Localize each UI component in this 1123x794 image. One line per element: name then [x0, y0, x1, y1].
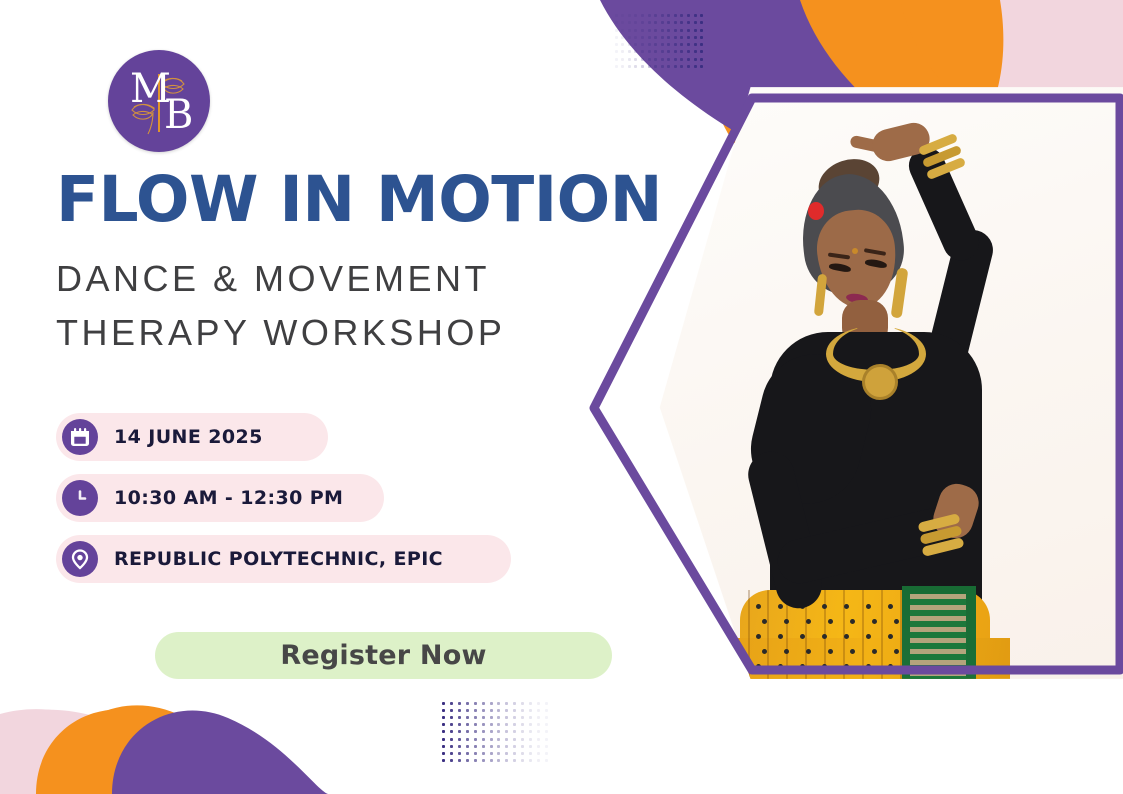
dot — [497, 709, 500, 712]
dot — [700, 29, 703, 32]
dot — [537, 738, 540, 741]
dot — [521, 709, 524, 712]
dot — [628, 50, 631, 53]
dot — [641, 21, 644, 24]
dot — [654, 21, 657, 24]
dot — [521, 723, 524, 726]
dot — [529, 745, 532, 748]
monogram-mb-logo-icon: M B — [108, 50, 210, 152]
dot — [513, 709, 516, 712]
dot — [628, 36, 631, 39]
dot — [654, 65, 657, 68]
dot — [615, 21, 618, 24]
dot — [621, 29, 624, 32]
dot — [674, 14, 677, 17]
dot — [680, 43, 683, 46]
dot — [513, 759, 516, 762]
dot — [628, 58, 631, 61]
dot — [505, 759, 508, 762]
dot — [466, 745, 469, 748]
dot — [641, 36, 644, 39]
dot — [615, 58, 618, 61]
dot — [474, 716, 477, 719]
dot — [621, 65, 624, 68]
dot — [537, 702, 540, 705]
dot — [648, 29, 651, 32]
dot — [700, 43, 703, 46]
dot — [482, 745, 485, 748]
dot — [680, 36, 683, 39]
calendar-icon — [62, 419, 98, 455]
detail-pill-venue: REPUBLIC POLYTECHNIC, EPIC — [56, 535, 511, 583]
dot — [667, 29, 670, 32]
dot — [521, 716, 524, 719]
dot — [482, 730, 485, 733]
dot — [458, 716, 461, 719]
dot — [458, 759, 461, 762]
dot — [545, 702, 548, 705]
dot — [545, 730, 548, 733]
dot — [648, 65, 651, 68]
dot — [474, 759, 477, 762]
dot — [545, 759, 548, 762]
dot — [700, 58, 703, 61]
dot — [621, 14, 624, 17]
dot — [661, 21, 664, 24]
detail-pill-date: 14 JUNE 2025 — [56, 413, 328, 461]
dot — [497, 702, 500, 705]
dot — [700, 65, 703, 68]
dot — [621, 50, 624, 53]
dot — [545, 738, 548, 741]
dot — [687, 29, 690, 32]
dot — [545, 723, 548, 726]
dot — [513, 723, 516, 726]
dot — [700, 36, 703, 39]
dot — [661, 14, 664, 17]
dot — [661, 43, 664, 46]
dot — [450, 759, 453, 762]
dancer-photo-frame: Indian classical dancer in black top and… — [580, 78, 1123, 688]
swoosh-bottom-orange — [40, 705, 280, 794]
dot — [641, 43, 644, 46]
dot — [621, 21, 624, 24]
dot — [615, 29, 618, 32]
dot — [615, 36, 618, 39]
dot — [466, 702, 469, 705]
dot — [505, 752, 508, 755]
dot — [615, 43, 618, 46]
dot — [667, 65, 670, 68]
dot — [674, 36, 677, 39]
dot — [529, 716, 532, 719]
dot — [648, 50, 651, 53]
dot — [661, 58, 664, 61]
dot — [545, 709, 548, 712]
dot — [674, 65, 677, 68]
dot — [450, 709, 453, 712]
clock-icon — [62, 480, 98, 516]
dot — [634, 21, 637, 24]
dot — [521, 738, 524, 741]
dot — [700, 21, 703, 24]
dot — [628, 43, 631, 46]
dot — [458, 723, 461, 726]
dot — [450, 745, 453, 748]
dot — [694, 29, 697, 32]
dot — [490, 716, 493, 719]
dot — [537, 716, 540, 719]
dot — [674, 29, 677, 32]
dot — [490, 745, 493, 748]
dot — [529, 738, 532, 741]
dot — [497, 716, 500, 719]
dot — [661, 65, 664, 68]
dot — [615, 65, 618, 68]
dot-grid-bottom — [440, 700, 550, 764]
dot — [529, 709, 532, 712]
dot — [674, 50, 677, 53]
dot — [641, 58, 644, 61]
dot — [505, 716, 508, 719]
hexagon-outline-icon — [580, 78, 1123, 688]
register-now-button[interactable]: Register Now — [155, 632, 612, 679]
dot — [490, 702, 493, 705]
poster-subheadline: DANCE & MOVEMENT THERAPY WORKSHOP — [56, 252, 656, 360]
dot — [505, 730, 508, 733]
dot — [513, 745, 516, 748]
dot — [694, 50, 697, 53]
dot — [680, 14, 683, 17]
dot — [641, 50, 644, 53]
dot — [529, 702, 532, 705]
dot — [497, 752, 500, 755]
dot — [442, 716, 445, 719]
dot — [545, 745, 548, 748]
dot — [694, 14, 697, 17]
dot — [458, 752, 461, 755]
dot — [505, 702, 508, 705]
dot — [537, 752, 540, 755]
dot — [537, 730, 540, 733]
dot — [687, 21, 690, 24]
dot — [654, 58, 657, 61]
dot — [667, 58, 670, 61]
dot — [458, 738, 461, 741]
dot — [490, 759, 493, 762]
dot — [621, 36, 624, 39]
dot — [521, 730, 524, 733]
dot — [634, 65, 637, 68]
location-pin-icon — [62, 541, 98, 577]
dot — [513, 752, 516, 755]
dot — [615, 14, 618, 17]
dot — [521, 702, 524, 705]
dot — [482, 738, 485, 741]
dot — [466, 709, 469, 712]
dot — [466, 723, 469, 726]
dot — [545, 752, 548, 755]
dot — [505, 738, 508, 741]
dot — [634, 43, 637, 46]
dot — [490, 738, 493, 741]
dot — [442, 702, 445, 705]
dot — [674, 58, 677, 61]
dot — [450, 730, 453, 733]
dot — [450, 723, 453, 726]
dot — [634, 58, 637, 61]
dot — [442, 723, 445, 726]
dot — [687, 43, 690, 46]
dot — [497, 738, 500, 741]
dot — [634, 36, 637, 39]
dot — [482, 723, 485, 726]
dot — [694, 36, 697, 39]
dot — [442, 738, 445, 741]
detail-pill-date-label: 14 JUNE 2025 — [114, 426, 263, 448]
dot — [442, 759, 445, 762]
dot — [634, 14, 637, 17]
dot — [466, 716, 469, 719]
swoosh-bottom-pink-b — [0, 709, 214, 794]
dot — [700, 50, 703, 53]
dot — [687, 50, 690, 53]
dot — [667, 36, 670, 39]
dot — [505, 723, 508, 726]
dot — [474, 723, 477, 726]
dot — [505, 709, 508, 712]
dot — [529, 723, 532, 726]
dot — [634, 50, 637, 53]
dot — [529, 730, 532, 733]
dot — [687, 36, 690, 39]
dot — [458, 730, 461, 733]
subheadline-line-1: DANCE & MOVEMENT — [56, 252, 656, 306]
dot — [680, 65, 683, 68]
dot — [450, 752, 453, 755]
dot — [687, 58, 690, 61]
dot — [628, 29, 631, 32]
dot — [680, 50, 683, 53]
dot — [474, 738, 477, 741]
dot — [442, 752, 445, 755]
dot — [458, 709, 461, 712]
dot — [648, 36, 651, 39]
subheadline-line-2: THERAPY WORKSHOP — [56, 306, 656, 360]
dot — [497, 730, 500, 733]
dot — [661, 29, 664, 32]
dot — [490, 730, 493, 733]
dot — [482, 716, 485, 719]
dot — [674, 43, 677, 46]
dot — [648, 21, 651, 24]
dot — [641, 65, 644, 68]
dot — [442, 745, 445, 748]
detail-pill-time-label: 10:30 AM - 12:30 PM — [114, 487, 343, 509]
swoosh-bottom-orange-b — [36, 710, 256, 794]
dot — [700, 14, 703, 17]
dot — [537, 709, 540, 712]
dot — [687, 14, 690, 17]
dot — [474, 730, 477, 733]
dot — [545, 716, 548, 719]
dot — [654, 29, 657, 32]
dot — [648, 43, 651, 46]
dot — [466, 738, 469, 741]
dot — [513, 702, 516, 705]
dot — [521, 745, 524, 748]
dot — [694, 58, 697, 61]
dot — [458, 702, 461, 705]
dot — [490, 752, 493, 755]
dot — [654, 14, 657, 17]
dot — [680, 58, 683, 61]
dot — [474, 745, 477, 748]
dot — [505, 745, 508, 748]
dot — [513, 730, 516, 733]
dot — [694, 43, 697, 46]
dot — [641, 14, 644, 17]
dot — [621, 58, 624, 61]
dot — [615, 50, 618, 53]
dot — [513, 738, 516, 741]
dot — [474, 752, 477, 755]
dot — [621, 43, 624, 46]
dot — [537, 759, 540, 762]
dot — [661, 36, 664, 39]
dot — [680, 29, 683, 32]
dot — [521, 759, 524, 762]
dot — [667, 50, 670, 53]
dot — [694, 21, 697, 24]
dot — [654, 36, 657, 39]
dot — [687, 65, 690, 68]
dot — [628, 14, 631, 17]
dot — [497, 759, 500, 762]
dot — [654, 50, 657, 53]
dot — [654, 43, 657, 46]
dot — [482, 709, 485, 712]
dot — [482, 759, 485, 762]
dot — [450, 716, 453, 719]
dot — [529, 759, 532, 762]
dot — [634, 29, 637, 32]
dot — [490, 709, 493, 712]
dot — [474, 709, 477, 712]
dot — [680, 21, 683, 24]
dot — [442, 709, 445, 712]
dot — [648, 14, 651, 17]
dot — [648, 58, 651, 61]
dot — [628, 21, 631, 24]
dot — [667, 43, 670, 46]
dot — [521, 752, 524, 755]
dot — [442, 730, 445, 733]
detail-pill-venue-label: REPUBLIC POLYTECHNIC, EPIC — [114, 548, 443, 570]
detail-pill-time: 10:30 AM - 12:30 PM — [56, 474, 384, 522]
dot — [458, 745, 461, 748]
dot — [497, 723, 500, 726]
dot — [667, 21, 670, 24]
dot — [450, 738, 453, 741]
swoosh-bottom-purple — [112, 711, 328, 794]
dot — [674, 21, 677, 24]
dot — [497, 745, 500, 748]
dot — [694, 65, 697, 68]
swoosh-bottom-pink — [0, 710, 228, 794]
dot-grid-top — [613, 12, 705, 70]
dot — [466, 759, 469, 762]
event-poster: M B FLOW IN MOTION DANCE & MOVEMENT THER… — [0, 0, 1123, 794]
dot — [628, 65, 631, 68]
dot — [466, 730, 469, 733]
dot — [529, 752, 532, 755]
dot — [450, 702, 453, 705]
dot — [667, 14, 670, 17]
dot — [537, 745, 540, 748]
dot — [482, 702, 485, 705]
dot — [537, 723, 540, 726]
dot — [474, 702, 477, 705]
dot — [641, 29, 644, 32]
dot — [490, 723, 493, 726]
dot — [661, 50, 664, 53]
dot — [513, 716, 516, 719]
dot — [466, 752, 469, 755]
svg-text:B: B — [164, 92, 193, 138]
dot — [482, 752, 485, 755]
